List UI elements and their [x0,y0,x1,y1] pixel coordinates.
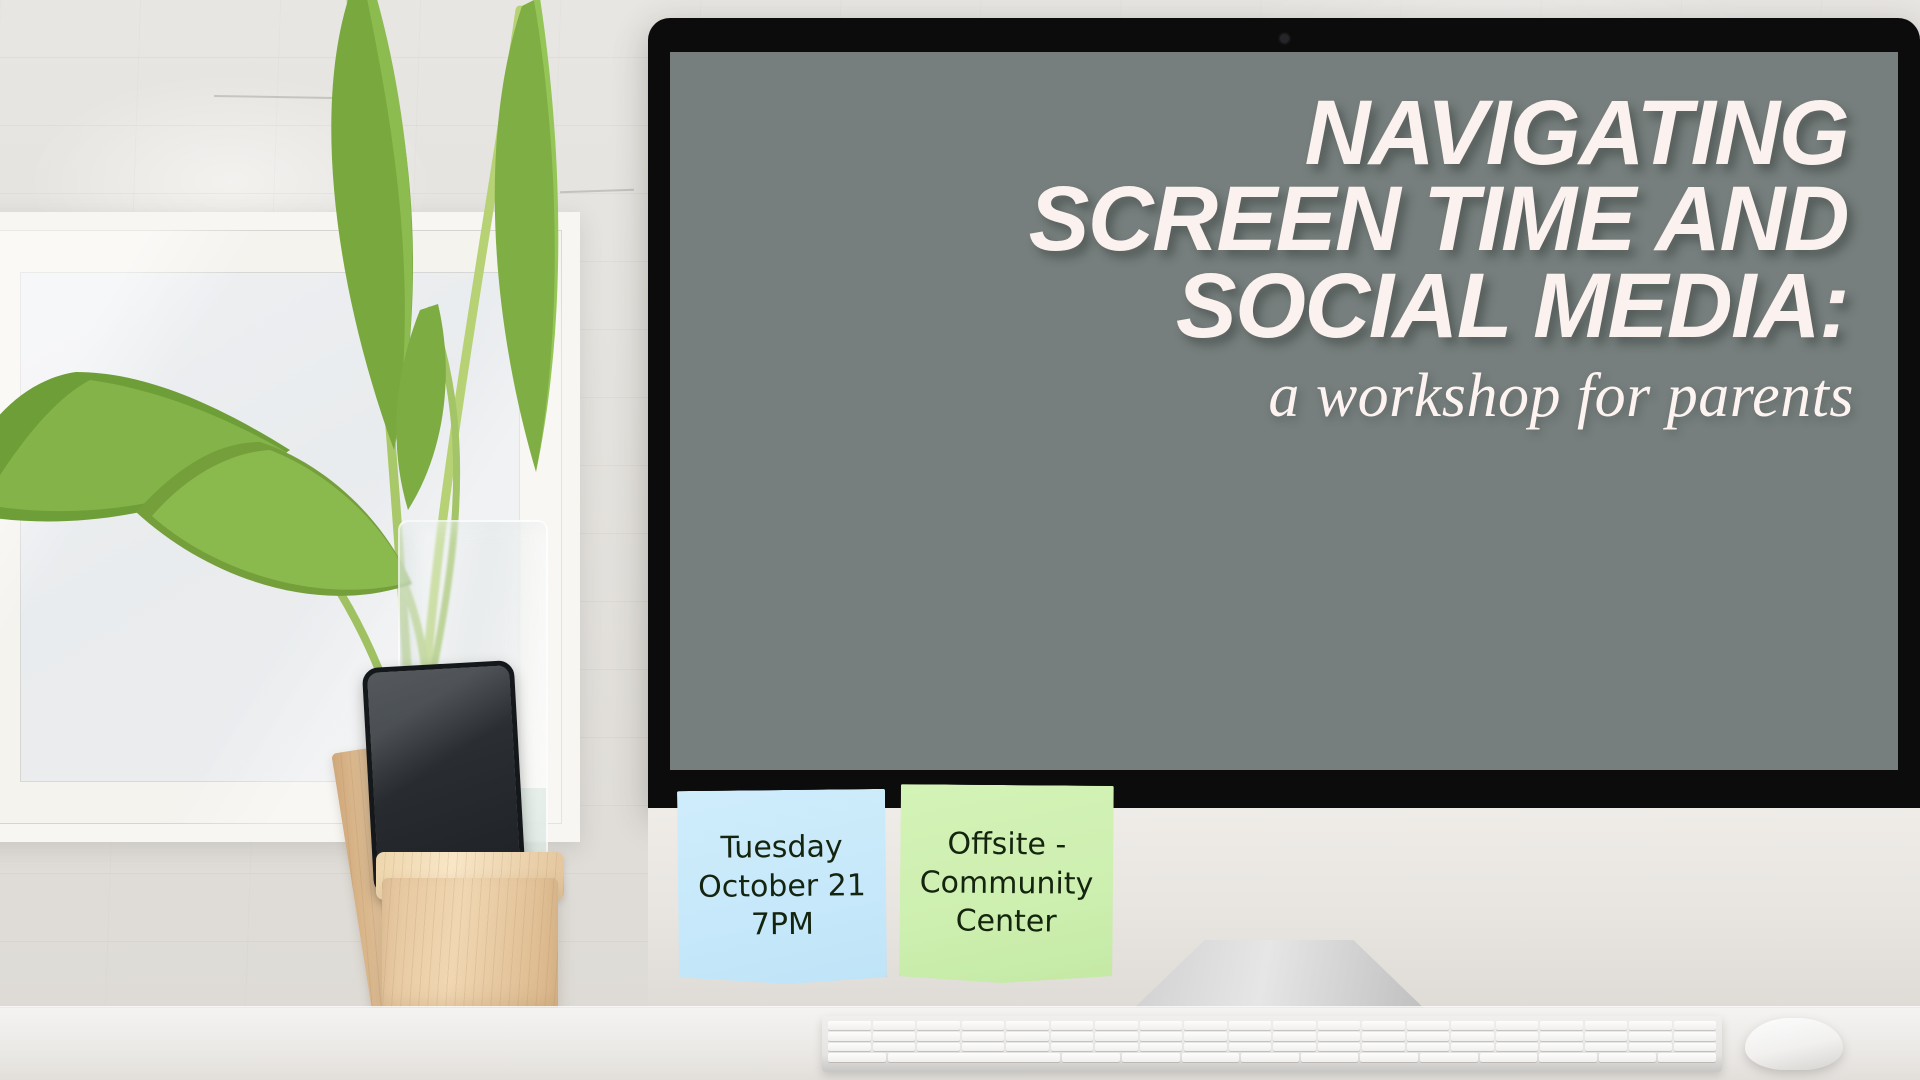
key [1006,1021,1049,1030]
key [1229,1021,1272,1030]
key [962,1043,1005,1052]
location-note-line-2: Community [920,864,1094,904]
key [1599,1053,1657,1062]
key [1451,1032,1494,1041]
key [1051,1043,1094,1052]
wood-grain [382,878,558,1016]
key [1585,1032,1628,1041]
key [1629,1043,1672,1052]
key [1122,1053,1180,1062]
key [1451,1021,1494,1030]
key [1674,1032,1717,1041]
key [1318,1021,1361,1030]
key [1674,1043,1717,1052]
keyboard-row [828,1053,1716,1062]
key [1360,1053,1418,1062]
headline-line-3: SOCIAL MEDIA: [676,263,1848,349]
mouse[interactable] [1745,1018,1843,1070]
date-note-line-2: October 21 [698,867,866,907]
key [1540,1021,1583,1030]
key [1362,1043,1405,1052]
date-note-line-1: Tuesday [698,829,866,869]
key [1362,1032,1405,1041]
key [1273,1021,1316,1030]
key [1184,1021,1227,1030]
key [917,1043,960,1052]
monitor-screen: NAVIGATING SCREEN TIME AND SOCIAL MEDIA:… [670,52,1898,770]
key [1674,1021,1717,1030]
key [873,1032,916,1041]
key [917,1021,960,1030]
key [1362,1021,1405,1030]
key [1184,1032,1227,1041]
key [962,1032,1005,1041]
keyboard-row [828,1021,1716,1030]
key [1496,1021,1539,1030]
page-title: NAVIGATING SCREEN TIME AND SOCIAL MEDIA: [676,90,1848,349]
key [1051,1032,1094,1041]
key [1273,1043,1316,1052]
key [1095,1032,1138,1041]
key [828,1021,871,1030]
key [1062,1053,1120,1062]
headline-line-1: NAVIGATING [676,90,1848,176]
keyboard-keys [828,1021,1716,1062]
key [1407,1032,1450,1041]
key [1407,1043,1450,1052]
location-note-line-1: Offsite - [920,826,1094,866]
key [828,1032,871,1041]
monitor-bezel: NAVIGATING SCREEN TIME AND SOCIAL MEDIA:… [648,18,1920,808]
key [1273,1032,1316,1041]
key [1006,1032,1049,1041]
key [1051,1021,1094,1030]
key [1540,1043,1583,1052]
keyboard-row [828,1032,1716,1041]
date-note: Tuesday October 21 7PM [677,789,887,985]
key [1006,1043,1049,1052]
key [1182,1053,1240,1062]
key [1585,1043,1628,1052]
keyboard-row [828,1043,1716,1052]
key [1318,1043,1361,1052]
key [1095,1021,1138,1030]
key [828,1043,871,1052]
flyer-artwork: NAVIGATING SCREEN TIME AND SOCIAL MEDIA:… [670,52,1898,770]
key [1140,1021,1183,1030]
subtitle: a workshop for parents [670,361,1854,432]
key [1496,1043,1539,1052]
webcam-icon [1280,34,1289,43]
key [1229,1043,1272,1052]
key [1658,1053,1716,1062]
key [873,1021,916,1030]
key [828,1053,886,1062]
key [1496,1032,1539,1041]
key [1095,1043,1138,1052]
keyboard[interactable] [822,1016,1722,1072]
key [1407,1021,1450,1030]
wooden-phone-stand [382,878,558,1016]
key [1629,1032,1672,1041]
key [873,1043,916,1052]
headline-line-2: SCREEN TIME AND [676,176,1848,262]
key [1241,1053,1299,1062]
key [1140,1043,1183,1052]
flyer-scene: NAVIGATING SCREEN TIME AND SOCIAL MEDIA:… [0,0,1920,1080]
key [1451,1043,1494,1052]
key [962,1021,1005,1030]
key [1420,1053,1478,1062]
location-note-line-3: Center [919,902,1093,942]
desktop-monitor: NAVIGATING SCREEN TIME AND SOCIAL MEDIA:… [648,18,1920,808]
key [1480,1053,1538,1062]
key [1540,1032,1583,1041]
key [917,1032,960,1041]
key-space [888,1053,1061,1062]
key [1629,1021,1672,1030]
key [1585,1021,1628,1030]
date-note-line-3: 7PM [698,905,866,945]
potted-plant [0,0,660,760]
key [1539,1053,1597,1062]
key [1184,1043,1227,1052]
location-note: Offsite - Community Center [899,784,1114,984]
key [1301,1053,1359,1062]
key [1229,1032,1272,1041]
key [1140,1032,1183,1041]
key [1318,1032,1361,1041]
